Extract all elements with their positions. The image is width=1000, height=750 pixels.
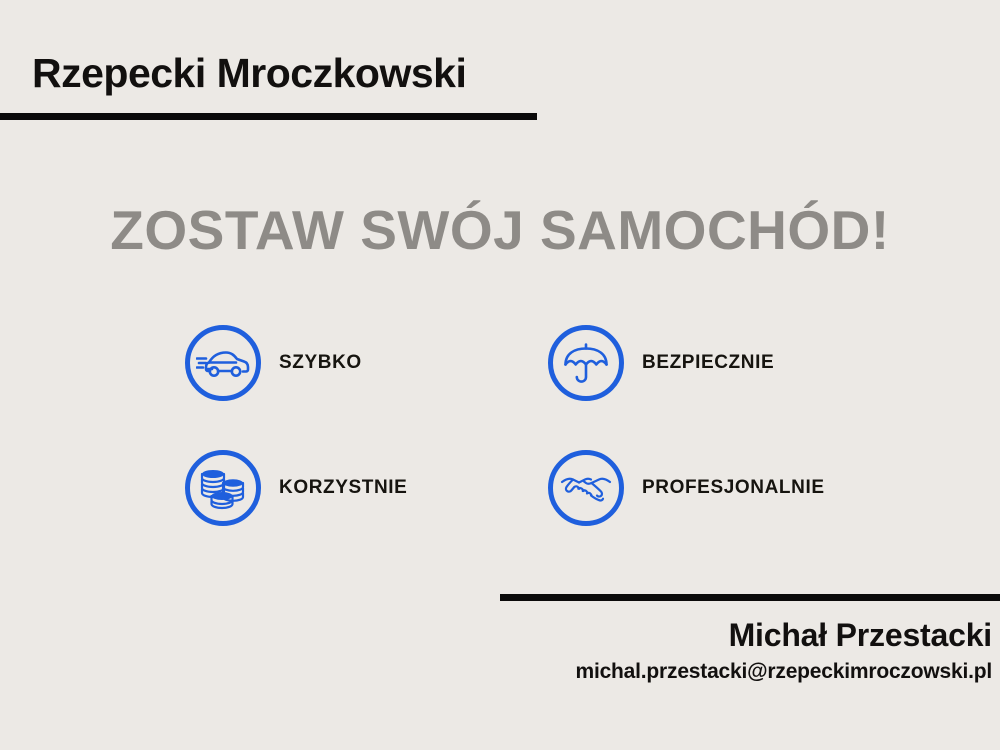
footer-divider <box>500 594 1000 601</box>
feature-label: SZYBKO <box>279 352 362 374</box>
feature-label: BEZPIECZNIE <box>642 352 774 374</box>
header-divider <box>0 113 537 120</box>
page-title: ZOSTAW SWÓJ SAMOCHÓD! <box>0 198 1000 262</box>
handshake-icon <box>548 450 624 526</box>
header: Rzepecki Mroczkowski <box>0 50 540 120</box>
company-title: Rzepecki Mroczkowski <box>0 50 540 97</box>
car-speed-icon <box>185 325 261 401</box>
feature-label: PROFESJONALNIE <box>642 477 825 499</box>
contact-email[interactable]: michal.przestacki@rzepeckimroczowski.pl <box>500 660 1000 684</box>
features-grid: SZYBKO BEZPIECZNIE <box>185 300 885 550</box>
coins-stack-icon <box>185 450 261 526</box>
feature-item-profesjonalnie: PROFESJONALNIE <box>548 425 885 550</box>
feature-item-korzystnie: KORZYSTNIE <box>185 425 548 550</box>
slide-root: Rzepecki Mroczkowski ZOSTAW SWÓJ SAMOCHÓ… <box>0 0 1000 750</box>
umbrella-icon <box>548 325 624 401</box>
feature-item-szybko: SZYBKO <box>185 300 548 425</box>
feature-item-bezpiecznie: BEZPIECZNIE <box>548 300 885 425</box>
contact-name: Michał Przestacki <box>500 617 1000 654</box>
footer: Michał Przestacki michal.przestacki@rzep… <box>500 594 1000 684</box>
feature-label: KORZYSTNIE <box>279 477 407 499</box>
